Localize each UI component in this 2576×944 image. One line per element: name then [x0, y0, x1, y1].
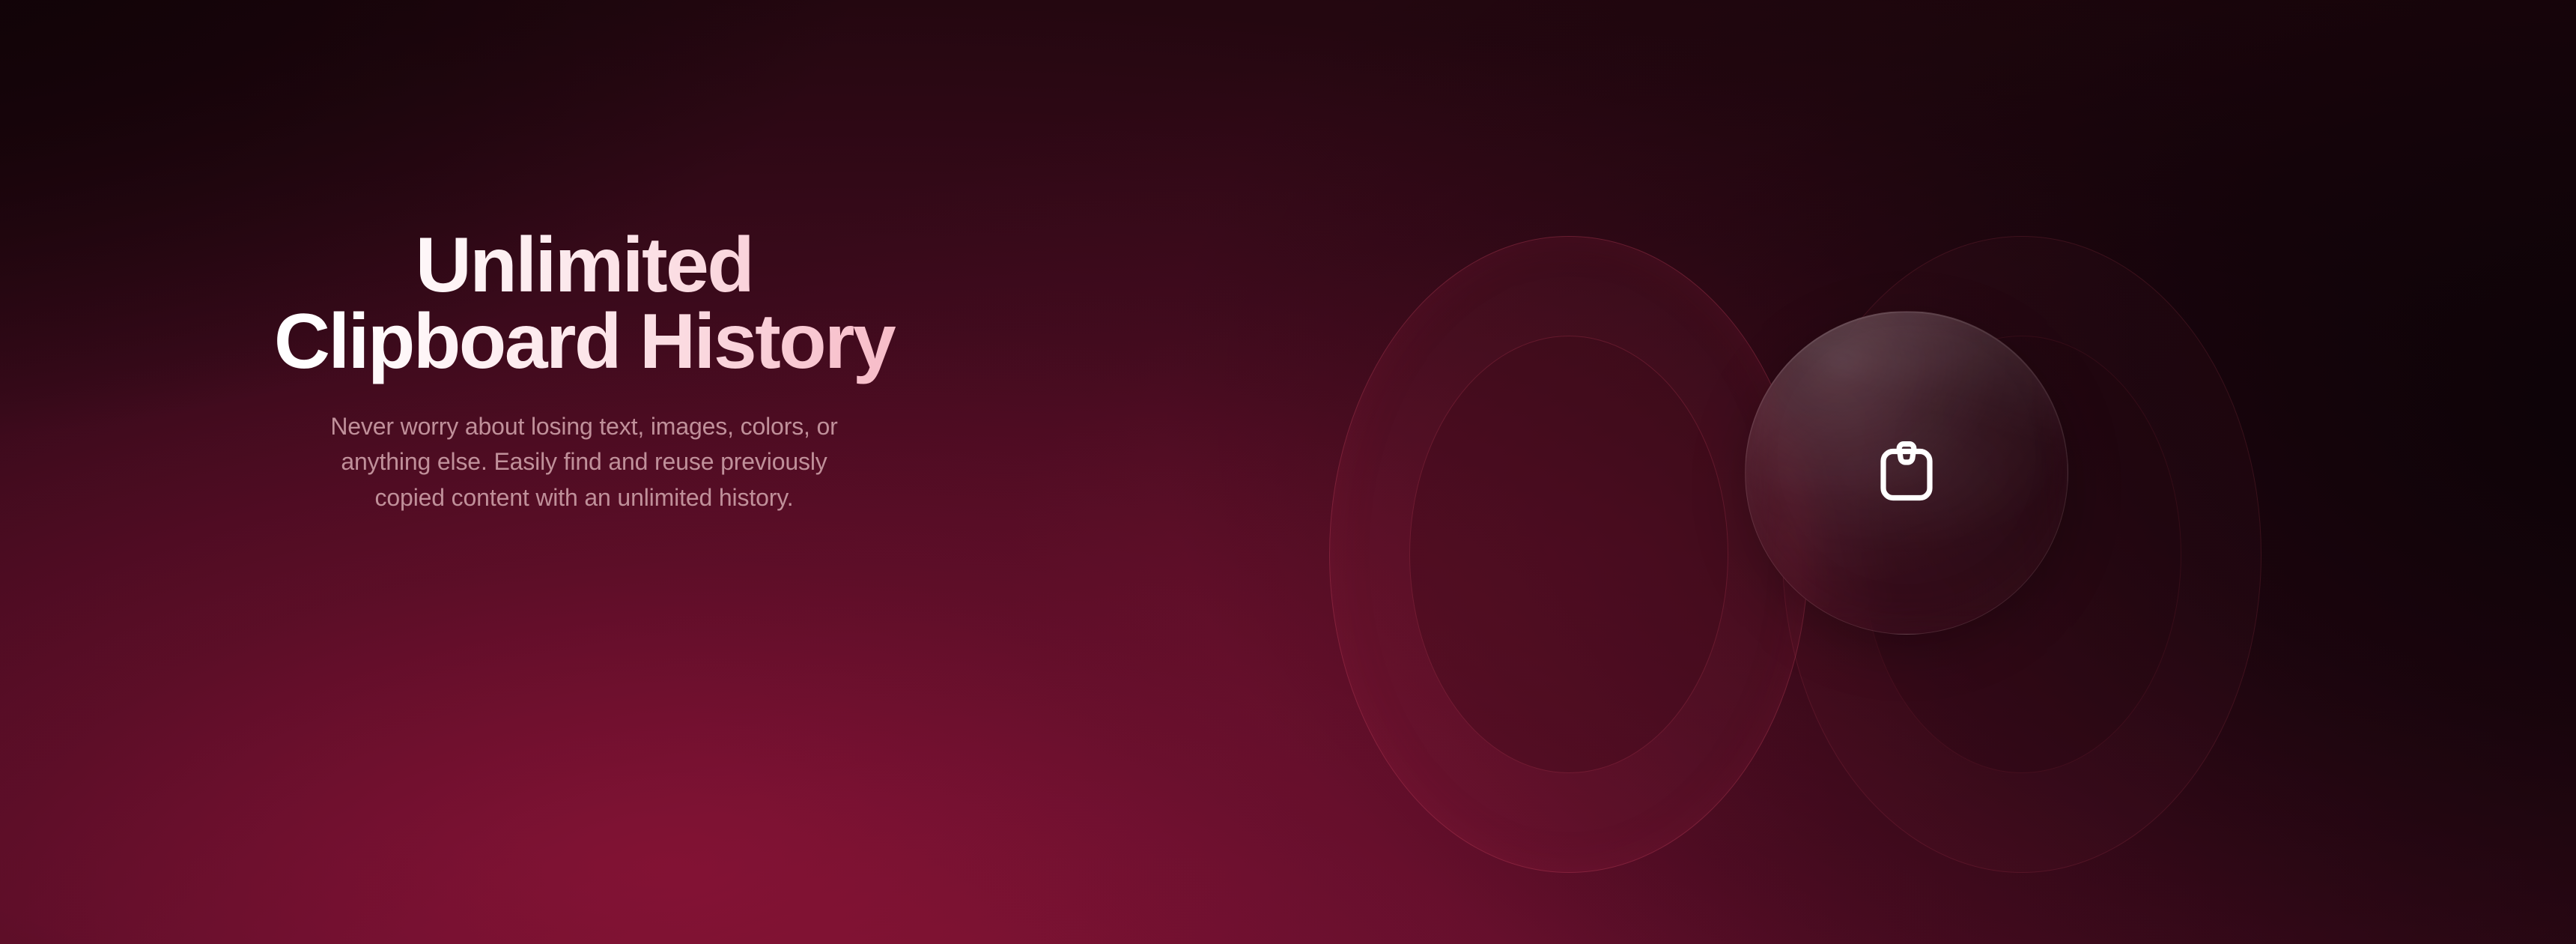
glass-icon-badge — [1745, 311, 2068, 635]
headline-line-2: Clipboard History — [0, 304, 1168, 381]
subtitle-line-2: anything else. Easily find and reuse pre… — [281, 444, 887, 479]
clipboard-icon — [1871, 437, 1942, 509]
headline-line-1: Unlimited — [0, 228, 1168, 304]
subtitle-line-1: Never worry about losing text, images, c… — [281, 409, 887, 444]
subtitle-line-3: copied content with an unlimited history… — [281, 480, 887, 515]
hero-banner: Unlimited Clipboard History Never worry … — [0, 0, 2576, 944]
hero-subtitle: Never worry about losing text, images, c… — [281, 409, 887, 515]
infinity-loop-left-inner-ring — [1409, 336, 1728, 773]
page-title: Unlimited Clipboard History — [0, 225, 1168, 388]
hero-copy: Unlimited Clipboard History Never worry … — [0, 225, 1168, 515]
